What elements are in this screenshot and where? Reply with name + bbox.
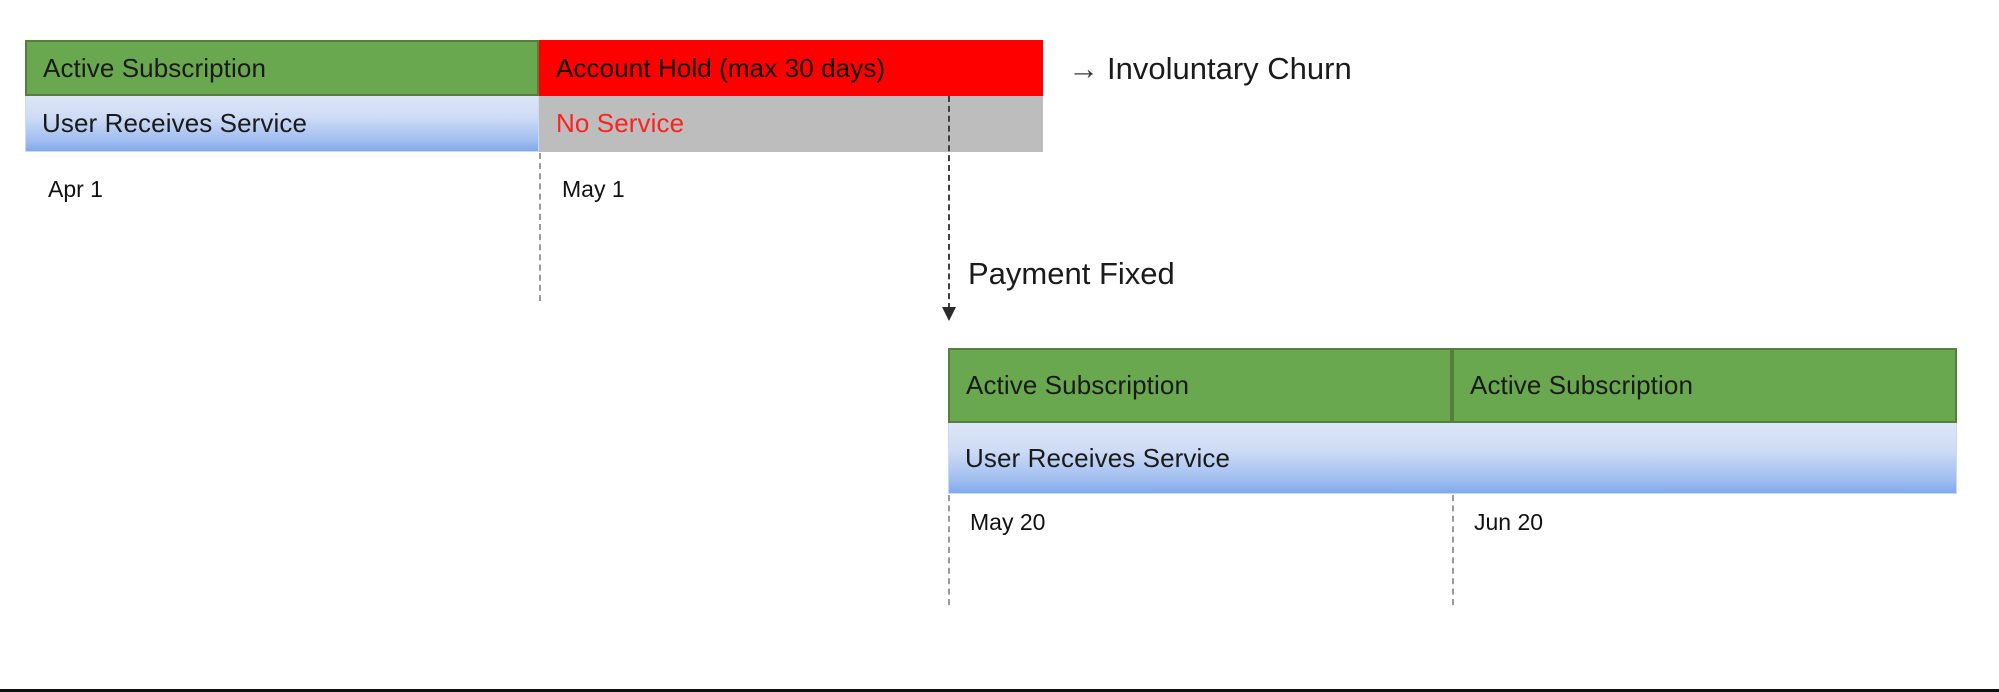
bottom-timeline-tick-label-jun-20: Jun 20 bbox=[1474, 509, 1543, 536]
top-bar-user-receives-service: User Receives Service bbox=[25, 96, 539, 152]
top-bar-no-service-label: No Service bbox=[540, 109, 684, 138]
bottom-bar-active-subscription-cycle-2-label: Active Subscription bbox=[1454, 371, 1693, 400]
diagram-canvas: Active Subscription Account Hold (max 30… bbox=[0, 0, 1999, 692]
top-bar-no-service: No Service bbox=[539, 96, 1043, 152]
payment-fixed-label: Payment Fixed bbox=[968, 256, 1175, 292]
right-arrow-icon: → bbox=[1068, 51, 1099, 87]
bottom-timeline-tick-line-may-20 bbox=[948, 495, 950, 605]
bottom-bar-user-receives-service: User Receives Service bbox=[948, 423, 1957, 494]
top-bar-account-hold: Account Hold (max 30 days) bbox=[539, 40, 1043, 96]
bottom-bar-active-subscription-cycle-1: Active Subscription bbox=[948, 348, 1452, 423]
bottom-timeline-tick-label-may-20: May 20 bbox=[970, 509, 1045, 536]
payment-fixed-arrowhead-icon bbox=[942, 307, 956, 321]
bottom-bar-active-subscription-cycle-2: Active Subscription bbox=[1452, 348, 1957, 423]
top-timeline-tick-label-may-1: May 1 bbox=[562, 176, 625, 203]
top-bar-active-subscription-label: Active Subscription bbox=[27, 54, 266, 83]
top-bar-active-subscription: Active Subscription bbox=[25, 40, 539, 96]
top-timeline-tick-label-apr-1: Apr 1 bbox=[48, 176, 103, 203]
involuntary-churn-label: Involuntary Churn bbox=[1107, 51, 1352, 86]
top-timeline-tick-line-may-1 bbox=[539, 153, 541, 301]
bottom-bar-active-subscription-cycle-1-label: Active Subscription bbox=[950, 371, 1189, 400]
involuntary-churn-callout: →Involuntary Churn bbox=[1068, 51, 1352, 87]
top-bar-user-receives-service-label: User Receives Service bbox=[26, 109, 307, 138]
bottom-timeline-tick-line-jun-20 bbox=[1452, 495, 1454, 605]
bottom-bar-user-receives-service-label: User Receives Service bbox=[949, 444, 1230, 473]
top-bar-account-hold-label: Account Hold (max 30 days) bbox=[540, 54, 885, 83]
payment-fixed-connector-line bbox=[948, 96, 950, 309]
